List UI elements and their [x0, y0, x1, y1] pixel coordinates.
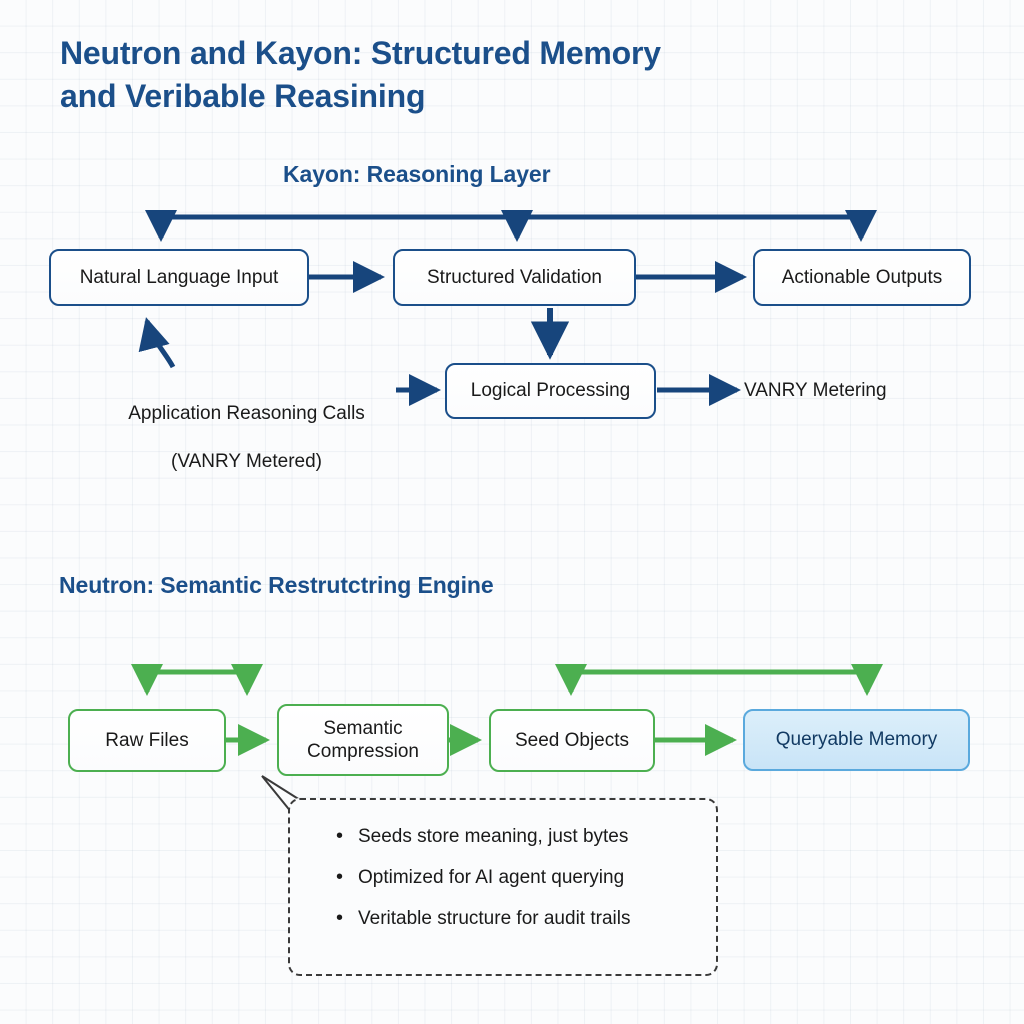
- node-label: Natural Language Input: [80, 266, 279, 289]
- edge-appcalls-feedback-curve: [147, 321, 173, 367]
- node-label: Actionable Outputs: [782, 266, 943, 289]
- node-actionable-outputs[interactable]: Actionable Outputs: [753, 249, 971, 306]
- node-structured-validation[interactable]: Structured Validation: [393, 249, 636, 306]
- node-raw-files[interactable]: Raw Files: [68, 709, 226, 772]
- node-logical-processing[interactable]: Logical Processing: [445, 363, 656, 419]
- node-label: Raw Files: [105, 729, 188, 752]
- node-seed-objects[interactable]: Seed Objects: [489, 709, 655, 772]
- callout-bullet: Optimized for AI agent querying: [336, 867, 716, 889]
- page-title-line-2: and Veribable Reasining: [60, 78, 425, 114]
- node-label: Structured Validation: [427, 266, 602, 289]
- page-title: Neutron and Kayon: Structured Memory and…: [60, 32, 860, 117]
- node-natural-language-input[interactable]: Natural Language Input: [49, 249, 309, 306]
- section-title-neutron: Neutron: Semantic Restrutctring Engine: [59, 572, 494, 599]
- callout-bullet: Veritable structure for audit trails: [336, 908, 716, 930]
- edge-neutron-bus-left: [147, 672, 248, 692]
- node-semantic-compression[interactable]: Semantic Compression: [277, 704, 449, 776]
- node-queryable-memory[interactable]: Queryable Memory: [743, 709, 970, 771]
- node-label: Semantic Compression: [307, 717, 419, 763]
- label-line-1: Application Reasoning Calls: [128, 403, 365, 424]
- edge-kayon-bus: [161, 217, 862, 238]
- node-label: Logical Processing: [471, 379, 630, 402]
- node-label: Seed Objects: [515, 729, 629, 752]
- callout-bullet-list: Seeds store meaning, just bytes Optimize…: [290, 800, 716, 930]
- node-label: Queryable Memory: [776, 728, 938, 751]
- annotation-callout: Seeds store meaning, just bytes Optimize…: [288, 798, 718, 976]
- label-application-reasoning-calls: Application Reasoning Calls (VANRY Meter…: [104, 378, 389, 474]
- section-title-kayon: Kayon: Reasoning Layer: [283, 161, 550, 188]
- label-line-2: (VANRY Metered): [171, 451, 322, 472]
- diagram-canvas: Neutron and Kayon: Structured Memory and…: [0, 0, 1024, 1024]
- callout-bullet: Seeds store meaning, just bytes: [336, 826, 716, 848]
- label-vanry-metering: VANRY Metering: [744, 379, 924, 403]
- page-title-line-1: Neutron and Kayon: Structured Memory: [60, 35, 661, 71]
- edge-neutron-bus-right: [571, 672, 868, 692]
